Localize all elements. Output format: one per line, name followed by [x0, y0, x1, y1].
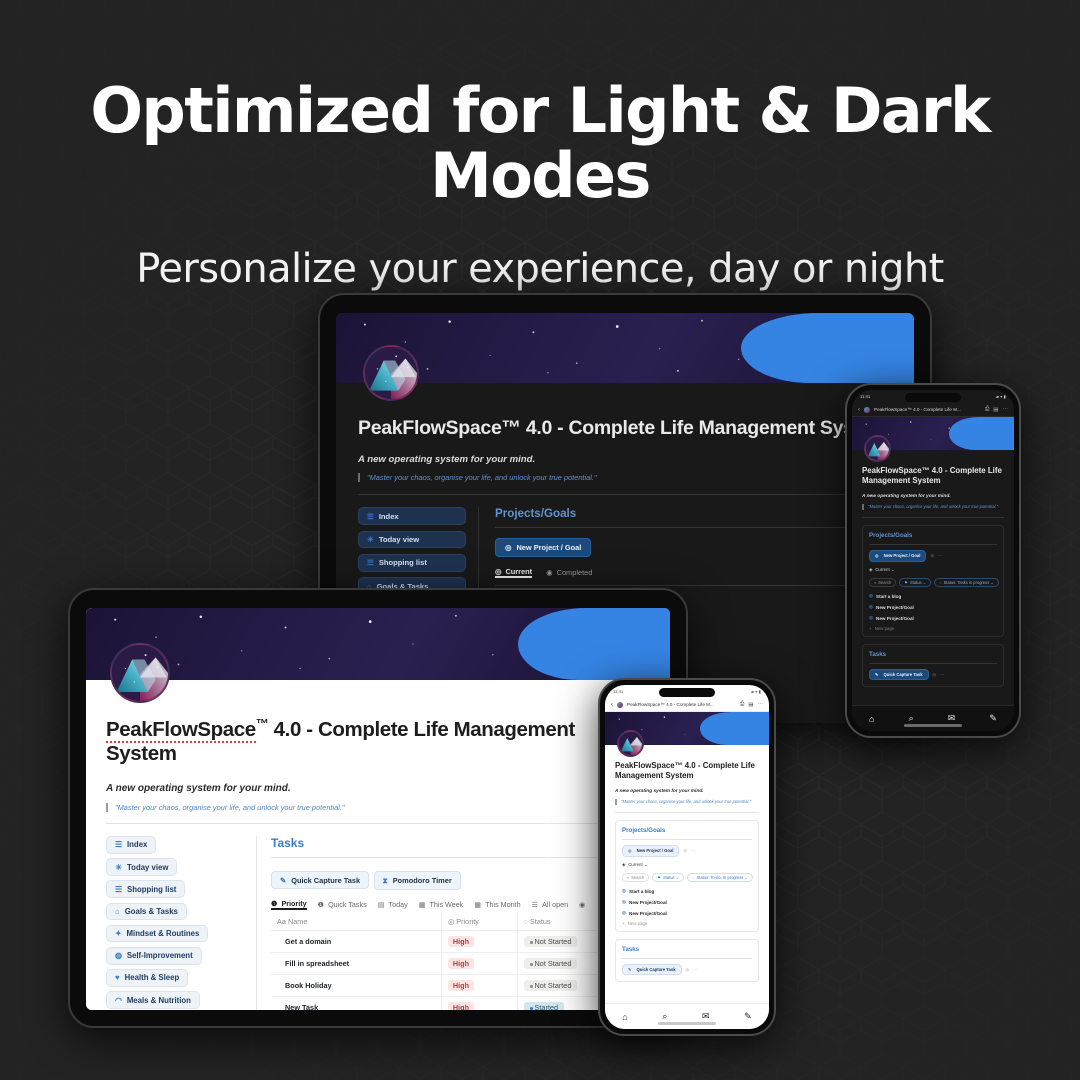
priority-tag: High — [448, 980, 474, 991]
page-tagline: A new operating system for your mind. — [862, 494, 1004, 499]
sidebar-item-goals-tasks[interactable]: ⌂ Goals & Tasks — [106, 903, 187, 921]
phone-device-light: 11:41 ▰ ▾ ▮ ‹ PeakFlowSpace™ 4.0 - Compl… — [598, 678, 776, 1036]
tab-label: This Month — [485, 900, 521, 909]
settings-icon[interactable]: ◎ — [930, 553, 934, 558]
panel-title: Tasks — [271, 836, 650, 850]
browser-title: PeakFlowSpace™ 4.0 - Complete Life M... — [874, 407, 981, 412]
status-label: Not Started — [535, 937, 572, 946]
filter-chip-label: Status ⌄ — [910, 580, 926, 585]
edit-square-icon: ✎ — [628, 967, 632, 972]
target-icon: ◎ — [869, 593, 873, 599]
filter-chip-status-detail[interactable]: ◌ Status: Tasks in progress ⌄ — [934, 578, 999, 587]
tab-label: Current — [505, 567, 532, 576]
reader-icon[interactable]: ▤ — [993, 407, 998, 413]
column-label: Status — [530, 917, 551, 926]
divider — [271, 857, 650, 858]
new-project-goal-label: New Project / Goal — [637, 848, 674, 853]
page-title: PeakFlowSpace™ 4.0 - Complete Life Manag… — [106, 716, 650, 767]
list-icon: ☰ — [115, 840, 122, 849]
project-list-item[interactable]: ◎ Start a blog — [622, 888, 752, 894]
tasks-panel-light: Tasks ✎ Quick Capture Task ⧗ Pomodoro Ti… — [256, 836, 650, 1010]
filter-chip-status[interactable]: ⚑ Status ⌄ — [652, 873, 684, 882]
cell-status: Not Started — [517, 975, 604, 997]
panel-title: Projects/Goals — [622, 827, 752, 834]
page-tagline: A new operating system for your mind. — [106, 783, 650, 794]
page-banner-dark — [336, 313, 914, 383]
new-project-goal-button[interactable]: ◎ New Project / Goal — [495, 538, 591, 557]
status-bar-light: 11:41 ▰ ▾ ▮ — [605, 685, 769, 698]
cell-priority: High — [441, 931, 517, 953]
quick-capture-task-button[interactable]: ✎ Quick Capture Task — [622, 964, 682, 975]
edit-square-icon: ✎ — [875, 672, 879, 677]
panel-title: Tasks — [869, 651, 997, 658]
divider — [106, 823, 650, 824]
page-title-text: PeakFlowSpace™ 4.0 - Complete Life Manag… — [358, 417, 888, 439]
target-icon: ◎ — [495, 567, 501, 576]
tablet-device-light: PeakFlowSpace™ 4.0 - Complete Life Manag… — [68, 588, 688, 1028]
status-badge: Started — [524, 1002, 565, 1010]
tab-this-week[interactable]: ▦ This Week — [419, 900, 464, 909]
priority-icon: ❶ — [318, 900, 324, 909]
project-item-label: Start a blog — [629, 889, 654, 894]
new-page-row[interactable]: + New page — [869, 626, 997, 631]
sidebar-item-index[interactable]: ☰ Index — [106, 836, 156, 854]
filter-chip-status-detail[interactable]: ◌ Status: To-do, In progress ⌄ — [687, 873, 753, 882]
list-icon: ☰ — [367, 512, 374, 521]
browser-chrome-light: ‹ PeakFlowSpace™ 4.0 - Complete Life M..… — [605, 698, 769, 712]
sidebar-item-label: Meals & Nutrition — [127, 996, 191, 1005]
new-project-goal-label: New Project / Goal — [516, 543, 581, 552]
sidebar-item-mindset-routines[interactable]: ✦ Mindset & Routines — [106, 925, 208, 943]
status-badge: Not Started — [524, 936, 578, 947]
tab-all-open[interactable]: ☰ All open — [532, 900, 568, 909]
new-project-goal-button[interactable]: ◎ New Project / Goal — [622, 845, 679, 856]
home-indicator — [658, 1022, 716, 1025]
phone-notch — [905, 393, 961, 402]
panel-title: Tasks — [622, 946, 752, 953]
more-icon[interactable]: ⋯ — [940, 672, 944, 677]
calendar-icon: ▤ — [378, 900, 385, 909]
database-icon: ◈ — [869, 567, 872, 573]
shield-heart-icon: ♥ — [115, 973, 120, 982]
filter-chip-label: Status ⌄ — [663, 875, 679, 880]
status-indicators: ▰ ▾ ▮ — [751, 689, 761, 694]
status-badge: Not Started — [524, 958, 578, 969]
page-title: PeakFlowSpace™ 4.0 - Complete Life Manag… — [358, 417, 892, 440]
sidebar-light: ☰ Index ☀ Today view ☰ Shopping list ⌂ — [106, 836, 256, 1010]
status-dot — [530, 985, 533, 988]
target-icon: ◎ — [622, 910, 626, 916]
mountain-peak-logo — [110, 643, 170, 703]
table-row[interactable]: Fill in spreadsheet High Not Started — [271, 953, 650, 975]
tab-extra[interactable]: ◉ — [579, 900, 585, 909]
browser-chrome-dark: ‹ PeakFlowSpace™ 4.0 - Complete Life M..… — [852, 403, 1014, 417]
tasks-card-light: Tasks ✎ Quick Capture Task ◎ ⋯ — [615, 939, 759, 982]
search-placeholder: Search — [878, 580, 891, 585]
status-dot — [530, 1007, 533, 1010]
phone-screen-light: 11:41 ▰ ▾ ▮ ‹ PeakFlowSpace™ 4.0 - Compl… — [605, 685, 769, 1029]
project-item-label: New Project/Goal — [629, 911, 667, 916]
search-icon[interactable]: ⌕ — [662, 1011, 667, 1022]
project-item-label: New Project/Goal — [876, 605, 914, 610]
priority-tag: High — [448, 1002, 474, 1010]
sidebar-item-health-sleep[interactable]: ♥ Health & Sleep — [106, 969, 188, 987]
project-list-item[interactable]: ◎ New Project/Goal — [622, 910, 752, 916]
phone-notch — [659, 688, 715, 697]
filter-chip-label: Status: To-do, In progress ⌄ — [697, 875, 748, 880]
target-icon: ◎ — [505, 543, 511, 552]
cell-priority: High — [441, 953, 517, 975]
tab-this-month[interactable]: ▦ This Month — [474, 900, 520, 909]
quick-capture-task-button[interactable]: ✎ Quick Capture Task — [271, 871, 369, 889]
divider — [495, 527, 892, 528]
filter-icon: ⚑ — [657, 875, 661, 880]
filter-icon: ⚑ — [904, 580, 908, 585]
edit-square-icon: ✎ — [280, 876, 286, 885]
status-time: 11:41 — [613, 689, 623, 694]
search-icon: ⌕ — [874, 580, 876, 585]
home-indicator — [904, 724, 962, 727]
tab-current[interactable]: ◎ Current — [495, 567, 532, 578]
tablet-screen-light: PeakFlowSpace™ 4.0 - Complete Life Manag… — [86, 608, 670, 1010]
pomodoro-timer-button[interactable]: ⧗ Pomodoro Timer — [374, 871, 461, 890]
search-icon[interactable]: ⌕ — [909, 713, 914, 724]
project-item-label: New Project/Goal — [629, 900, 667, 905]
priority-tag: High — [448, 958, 474, 969]
status-badge: Not Started — [524, 980, 578, 991]
target-icon: ◎ — [869, 604, 873, 610]
page-quote: "Master your chaos, organise your life, … — [106, 803, 650, 812]
home-icon[interactable]: ⌂ — [622, 1012, 627, 1022]
table-header-row: Aa Name ◎ Priority ◌ Sta — [271, 913, 650, 931]
column-label: Priority — [456, 917, 479, 926]
tasks-card-dark: Tasks ✎ Quick Capture Task ◎ ⋯ — [862, 644, 1004, 687]
search-icon: ⌕ — [627, 875, 629, 880]
phone-content-dark[interactable]: PeakFlowSpace™ 4.0 - Complete Life Manag… — [852, 417, 1014, 687]
table-row[interactable]: Book Holiday High Not Started — [271, 975, 650, 997]
priority-tag: High — [448, 936, 474, 947]
tab-label: All open — [542, 900, 568, 909]
bowl-icon: ◠ — [115, 996, 122, 1005]
sidebar-item-label: Self-Improvement — [127, 951, 193, 960]
reader-icon[interactable]: ▤ — [748, 702, 753, 708]
pomodoro-label: Pomodoro Timer — [393, 876, 452, 885]
sidebar-item-shopping-list[interactable]: ☰ Shopping list — [106, 880, 185, 898]
sidebar-item-today-view[interactable]: ☀ Today view — [358, 531, 466, 549]
sidebar-item-label: Today view — [379, 535, 419, 544]
project-list-item[interactable]: ◎ Start a blog — [869, 593, 997, 599]
heading-block: Optimized for Light & Dark Modes Persona… — [0, 0, 1080, 250]
page-quote: "Master your chaos, organise your life, … — [615, 799, 759, 806]
page-quote: "Master your chaos, organise your life, … — [358, 473, 892, 482]
divider — [622, 958, 752, 959]
quick-capture-label: Quick Capture Task — [637, 967, 676, 972]
more-icon[interactable]: ⋯ — [758, 702, 764, 708]
status-bar-dark: 11:41 ▰ ▾ ▮ — [852, 390, 1014, 403]
column-header-status[interactable]: ◌ Status — [517, 913, 604, 931]
phone-content-light[interactable]: PeakFlowSpace™ 4.0 - Complete Life Manag… — [605, 712, 769, 982]
column-label: Name — [288, 917, 307, 926]
sidebar-item-label: Shopping list — [379, 558, 427, 567]
projects-card-dark: Projects/Goals ◎ New Project / Goal ◎ ⋯ … — [862, 525, 1004, 637]
plus-icon: + — [622, 921, 625, 926]
page-title: PeakFlowSpace™ 4.0 - Complete Life Manag… — [862, 466, 1004, 487]
tab-today[interactable]: ▤ Today — [378, 900, 408, 909]
target-icon: ◎ — [869, 615, 873, 621]
tab-completed[interactable]: ◉ Completed — [546, 568, 592, 577]
table-row[interactable]: New Task High Started — [271, 997, 650, 1010]
database-icon: ◈ — [622, 862, 625, 868]
project-item-label: Start a blog — [876, 594, 901, 599]
current-selector[interactable]: Current ⌄ — [875, 567, 894, 573]
status-label: Not Started — [535, 981, 572, 990]
new-page-row[interactable]: + New page — [622, 921, 752, 926]
target-icon: ◎ — [628, 848, 632, 853]
calendar-grid-icon: ▦ — [419, 900, 426, 909]
search-input[interactable]: ⌕ Search — [869, 578, 896, 587]
cell-status: Not Started — [517, 953, 604, 975]
more-icon[interactable]: ⋯ — [1003, 407, 1009, 413]
divider — [869, 663, 997, 664]
phone-screen-dark: 11:41 ▰ ▾ ▮ ‹ PeakFlowSpace™ 4.0 - Compl… — [852, 390, 1014, 731]
sidebar-item-today-view[interactable]: ☀ Today view — [106, 858, 177, 876]
current-selector[interactable]: Current ⌄ — [628, 862, 647, 868]
mountain-peak-logo — [864, 435, 891, 462]
sidebar-item-label: Goals & Tasks — [125, 907, 178, 916]
quick-capture-task-button[interactable]: ✎ Quick Capture Task — [869, 669, 929, 680]
new-page-label: New page — [875, 626, 895, 631]
projects-card-light: Projects/Goals ◎ New Project / Goal ◎ ⋯ … — [615, 820, 759, 932]
sun-icon: ☀ — [367, 535, 374, 544]
column-header-name[interactable]: Aa Name — [271, 913, 441, 931]
sidebar-item-meals-nutrition[interactable]: ◠ Meals & Nutrition — [106, 991, 200, 1009]
status-time: 11:41 — [860, 394, 870, 399]
page-title: PeakFlowSpace™ 4.0 - Complete Life Manag… — [615, 761, 759, 782]
page-headline: Optimized for Light & Dark Modes — [0, 78, 1080, 208]
cell-status: Not Started — [517, 931, 604, 953]
inbox-icon[interactable]: ✉ — [702, 1011, 710, 1022]
page-title-brand: PeakFlowSpace — [106, 718, 256, 743]
tab-label: Priority — [281, 899, 306, 908]
status-label: Not Started — [535, 959, 572, 968]
trademark-symbol: ™ — [256, 716, 269, 731]
more-icon[interactable]: ⋯ — [693, 967, 697, 972]
settings-icon[interactable]: ◎ — [933, 672, 937, 677]
sidebar-item-self-improvement[interactable]: ◍ Self-Improvement — [106, 947, 202, 965]
person-circle-icon: ◍ — [115, 951, 122, 960]
check-circle-icon: ◉ — [546, 568, 552, 577]
bottom-nav-light: ⌂ ⌕ ✉ ✎ — [605, 1003, 769, 1029]
settings-icon[interactable]: ◎ — [683, 848, 687, 853]
tasks-table: Aa Name ◎ Priority ◌ Sta — [271, 913, 650, 1010]
phone-device-dark: 11:41 ▰ ▾ ▮ ‹ PeakFlowSpace™ 4.0 - Compl… — [845, 383, 1021, 738]
page-quote: "Master your chaos, organise your life, … — [862, 504, 1004, 511]
list-icon: ☰ — [367, 558, 374, 567]
check-circle-icon: ◉ — [579, 900, 585, 909]
select-icon: ◎ — [448, 917, 454, 926]
home-icon[interactable]: ⌂ — [869, 714, 874, 724]
search-input[interactable]: ⌕ Search — [622, 873, 649, 882]
sun-icon: ☀ — [115, 863, 122, 872]
sidebar-item-index[interactable]: ☰ Index — [358, 507, 466, 525]
status-icon: ◌ — [524, 917, 528, 926]
cell-priority: High — [441, 997, 517, 1010]
tab-label: This Week — [429, 900, 463, 909]
sparkle-icon: ✦ — [115, 929, 122, 938]
divider — [358, 494, 892, 495]
priority-icon: ❶ — [271, 899, 277, 908]
filter-chip-status[interactable]: ⚑ Status ⌄ — [899, 578, 931, 587]
target-icon: ◎ — [875, 553, 879, 558]
cell-name: Fill in spreadsheet — [271, 953, 441, 975]
status-dot — [530, 941, 533, 944]
cell-name: Book Holiday — [271, 975, 441, 997]
divider — [862, 517, 1004, 518]
text-icon: Aa — [277, 917, 286, 926]
tab-label: Completed — [557, 568, 593, 577]
panel-title: Projects/Goals — [495, 507, 892, 520]
new-project-goal-button[interactable]: ◎ New Project / Goal — [869, 550, 926, 561]
divider — [869, 544, 997, 545]
tab-priority[interactable]: ❶ Priority — [271, 899, 307, 910]
sidebar-item-label: Health & Sleep — [125, 973, 180, 982]
tab-quick-tasks[interactable]: ❶ Quick Tasks — [318, 900, 367, 909]
browser-title: PeakFlowSpace™ 4.0 - Complete Life M... — [627, 702, 736, 707]
calendar-grid-icon: ▦ — [474, 900, 481, 909]
compose-icon[interactable]: ✎ — [744, 1011, 752, 1022]
divider — [622, 839, 752, 840]
sidebar-item-label: Mindset & Routines — [127, 929, 200, 938]
table-row[interactable]: Get a domain High Not Started — [271, 931, 650, 953]
status-icon: ◌ — [692, 875, 694, 880]
sidebar-item-label: Index — [379, 512, 399, 521]
project-list-item[interactable]: ◎ New Project/Goal — [622, 899, 752, 905]
inbox-icon[interactable]: ✉ — [948, 713, 956, 724]
filter-chip-label: Status: Tasks in progress ⌄ — [944, 580, 994, 585]
bottom-nav-dark: ⌂ ⌕ ✉ ✎ — [852, 705, 1014, 731]
sidebar-item-label: Shopping list — [127, 885, 176, 894]
cell-status: Started — [517, 997, 604, 1010]
status-indicators: ▰ ▾ ▮ — [996, 394, 1006, 399]
project-list-item[interactable]: ◎ New Project/Goal — [869, 604, 997, 610]
banner-blue-shape — [700, 712, 769, 745]
project-list-item[interactable]: ◎ New Project/Goal — [869, 615, 997, 621]
page-tagline: A new operating system for your mind. — [358, 454, 892, 465]
banner-blue-shape — [518, 608, 670, 680]
panel-title: Projects/Goals — [869, 532, 997, 539]
list-icon: ☰ — [532, 900, 538, 909]
banner-blue-shape — [741, 313, 914, 383]
page-tagline: A new operating system for your mind. — [615, 789, 759, 794]
target-icon: ◎ — [622, 899, 626, 905]
more-icon[interactable]: ⋯ — [938, 553, 942, 558]
status-icon: ◌ — [939, 580, 941, 585]
back-arrow-icon[interactable]: ‹ — [858, 407, 860, 413]
settings-icon[interactable]: ◎ — [686, 967, 690, 972]
compose-icon[interactable]: ✎ — [989, 713, 997, 724]
quick-capture-label: Quick Capture Task — [291, 876, 360, 885]
share-icon[interactable]: ⎙ — [740, 701, 744, 708]
back-arrow-icon[interactable]: ‹ — [611, 702, 613, 708]
share-icon[interactable]: ⎙ — [985, 406, 989, 413]
page-subheadline: Personalize your experience, day or nigh… — [0, 246, 1080, 292]
target-icon: ◎ — [622, 888, 626, 894]
list-icon: ☰ — [115, 885, 122, 894]
new-page-label: New page — [628, 921, 648, 926]
tab-label: Today — [389, 900, 408, 909]
search-placeholder: Search — [631, 875, 644, 880]
sidebar-item-label: Today view — [127, 863, 168, 872]
hourglass-icon: ⧗ — [383, 876, 388, 886]
divider — [615, 812, 759, 813]
cell-name: New Task — [271, 997, 441, 1010]
column-header-priority[interactable]: ◎ Priority — [441, 913, 517, 931]
quick-capture-label: Quick Capture Task — [884, 672, 923, 677]
status-label: Started — [535, 1003, 559, 1010]
page-banner-light — [86, 608, 670, 680]
favicon-icon — [864, 407, 870, 413]
more-icon[interactable]: ⋯ — [691, 848, 695, 853]
banner-blue-shape — [949, 417, 1014, 450]
mountain-peak-logo — [617, 730, 644, 757]
mountain-peak-logo — [363, 345, 419, 401]
plus-icon: + — [869, 626, 872, 631]
cell-priority: High — [441, 975, 517, 997]
sidebar-item-label: Index — [127, 840, 147, 849]
project-item-label: New Project/Goal — [876, 616, 914, 621]
house-icon: ⌂ — [115, 907, 120, 916]
favicon-icon — [617, 702, 623, 708]
sidebar-item-shopping-list[interactable]: ☰ Shopping list — [358, 554, 466, 572]
new-project-goal-label: New Project / Goal — [884, 553, 921, 558]
tab-label: Quick Tasks — [328, 900, 367, 909]
status-dot — [530, 963, 533, 966]
cell-name: Get a domain — [271, 931, 441, 953]
